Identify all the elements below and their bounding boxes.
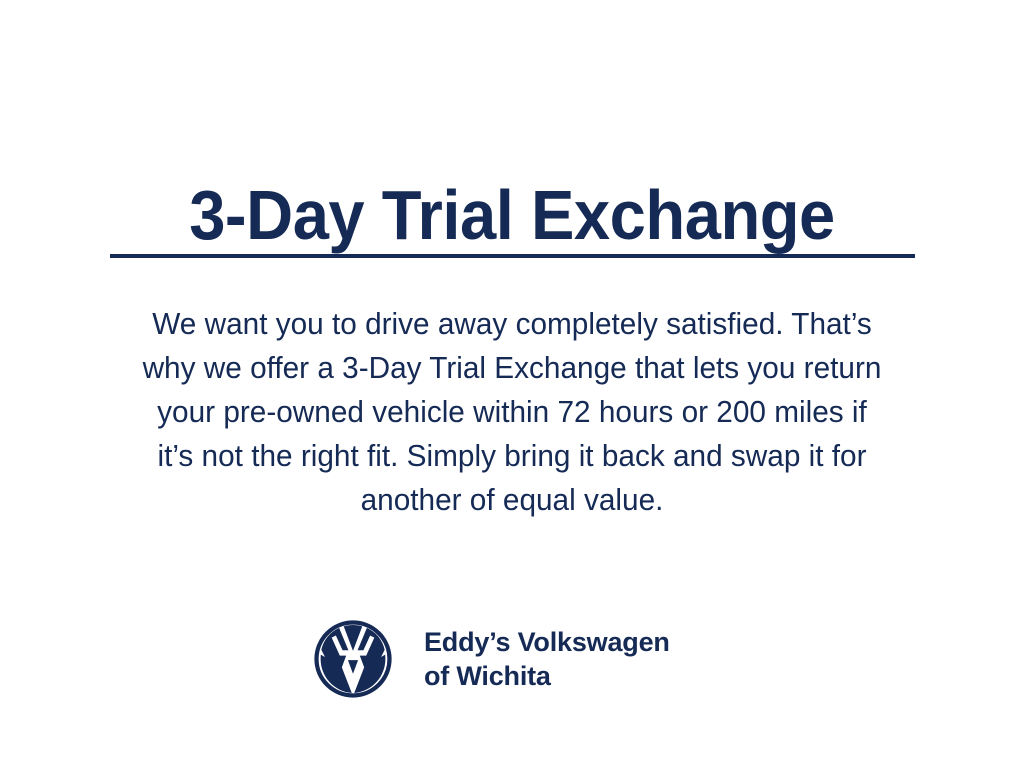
body-line: We want you to drive away completely sat… [80,302,944,346]
brand-lockup: Eddy’s Volkswagen of Wichita [312,618,670,700]
title-divider [110,254,915,258]
brand-name: Eddy’s Volkswagen of Wichita [424,625,670,693]
page-title: 3-Day Trial Exchange [36,173,988,257]
brand-name-line: of Wichita [424,659,670,693]
brand-name-line: Eddy’s Volkswagen [424,625,670,659]
body-line: it’s not the right fit. Simply bring it … [80,434,944,478]
body-line: another of equal value. [80,478,944,522]
body-line: your pre-owned vehicle within 72 hours o… [80,390,944,434]
volkswagen-roundel-icon [312,618,394,700]
promo-slide: 3-Day Trial Exchange We want you to driv… [0,0,1024,768]
body-line: why we offer a 3-Day Trial Exchange that… [80,346,944,390]
body-paragraph: We want you to drive away completely sat… [62,302,962,522]
